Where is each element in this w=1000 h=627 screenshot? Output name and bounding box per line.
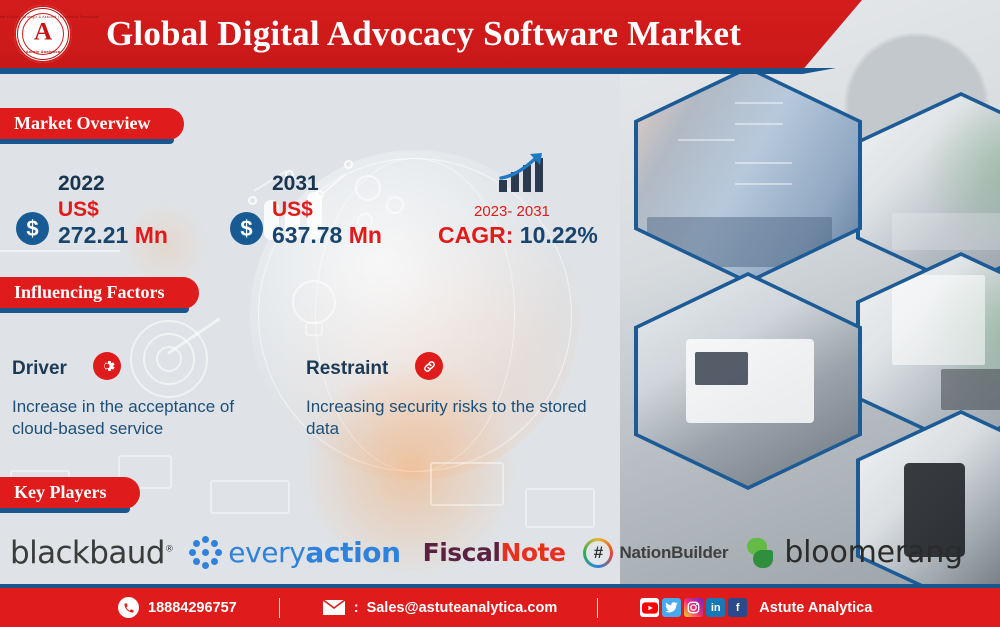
header-blue-strip	[0, 68, 836, 74]
infographic-canvas: Consistent & Bold | Strategic & Assured …	[0, 0, 1000, 627]
influencing-factors-section-header: Influencing Factors	[0, 277, 199, 309]
page-title: Global Digital Advocacy Software Market	[106, 14, 741, 54]
logo-nationbuilder-text: NationBuilder	[619, 543, 728, 563]
dollar-circle-icon-2022: $	[16, 212, 49, 245]
logo-letter-a: A	[34, 19, 52, 44]
footer-email-address: Sales@astuteanalytica.com	[367, 600, 558, 616]
footer-divider-2	[597, 598, 598, 618]
footer-bar: 18884296757 : Sales@astuteanalytica.com …	[0, 588, 1000, 627]
cagr-period: 2023- 2031	[474, 203, 550, 220]
forecast-year-label: 2031	[272, 172, 319, 196]
bar-chart-growth-icon	[497, 152, 553, 194]
header-bar: Consistent & Bold | Strategic & Assured …	[0, 0, 862, 68]
base-year-currency: US$	[58, 198, 99, 222]
logo-fiscalnote[interactable]: FiscalNote	[423, 525, 566, 580]
dot-circle-logo-icon	[189, 536, 223, 570]
footer-phone[interactable]: 18884296757	[118, 597, 237, 618]
base-year-value: 272.21 Mn	[58, 222, 168, 249]
logo-blackbaud-text: blackbaud	[10, 535, 165, 571]
gear-icon	[93, 352, 121, 380]
market-overview-section-header: Market Overview	[0, 108, 184, 140]
logo-nationbuilder[interactable]: # NationBuilder	[583, 525, 728, 580]
footer-phone-number: 18884296757	[148, 600, 237, 616]
forecast-year-value: 637.78 Mn	[272, 222, 382, 249]
cagr-value-line: CAGR: 10.22%	[438, 222, 598, 249]
cagr-separator: :	[506, 222, 514, 248]
envelope-icon	[322, 599, 346, 616]
base-year-unit: Mn	[135, 222, 168, 248]
photo-collage	[620, 0, 1000, 584]
key-players-section-header: Key Players	[0, 477, 140, 509]
footer-divider-1	[279, 598, 280, 618]
phone-icon	[118, 597, 139, 618]
restraint-label: Restraint	[306, 358, 388, 380]
cagr-value: 10.22%	[520, 222, 598, 248]
twitter-icon[interactable]	[662, 598, 681, 617]
base-year-label: 2022	[58, 172, 105, 196]
youtube-icon[interactable]	[640, 598, 659, 617]
footer-email[interactable]: : Sales@astuteanalytica.com	[322, 599, 558, 616]
logo-bloomerang-text: bloomerang	[784, 535, 963, 570]
facebook-icon[interactable]: f	[728, 598, 747, 617]
linkedin-icon[interactable]: in	[706, 598, 725, 617]
link-chain-icon	[415, 352, 443, 380]
logo-blackbaud[interactable]: blackbaud®	[0, 525, 173, 580]
key-players-badge: Key Players	[0, 477, 140, 509]
logo-company-name: Astute Analytica	[26, 49, 60, 54]
driver-text: Increase in the acceptance of cloud-base…	[12, 396, 277, 441]
astute-analytica-logo: Consistent & Bold | Strategic & Assured …	[14, 5, 72, 63]
hash-circle-logo-icon: #	[583, 538, 613, 568]
key-players-logos: blackbaud® everyaction FiscalNote # Nati…	[0, 525, 830, 580]
logo-everyaction-prefix: every	[228, 536, 305, 569]
logo-fiscalnote-prefix: Fiscal	[423, 538, 501, 567]
logo-everyaction-suffix: action	[305, 536, 400, 569]
base-year-number: 272.21	[58, 222, 128, 248]
forecast-year-currency: US$	[272, 198, 313, 222]
restraint-text: Increasing security risks to the stored …	[306, 396, 596, 441]
forecast-year-unit: Mn	[349, 222, 382, 248]
driver-label: Driver	[12, 358, 67, 380]
logo-bloomerang[interactable]: bloomerang	[746, 525, 963, 580]
dollar-circle-icon-2031: $	[230, 212, 263, 245]
footer-company-name: Astute Analytica	[759, 600, 872, 616]
registered-trademark-icon: ®	[165, 544, 173, 554]
influencing-factors-badge: Influencing Factors	[0, 277, 199, 309]
logo-everyaction[interactable]: everyaction	[189, 525, 400, 580]
leaf-logo-icon	[746, 538, 776, 568]
logo-fiscalnote-suffix: Note	[500, 538, 565, 567]
instagram-icon[interactable]	[684, 598, 703, 617]
cagr-label: CAGR	[438, 222, 506, 248]
footer-social-icons: in f	[640, 598, 747, 617]
footer-email-separator: :	[354, 600, 359, 616]
forecast-year-number: 637.78	[272, 222, 342, 248]
market-overview-badge: Market Overview	[0, 108, 184, 140]
